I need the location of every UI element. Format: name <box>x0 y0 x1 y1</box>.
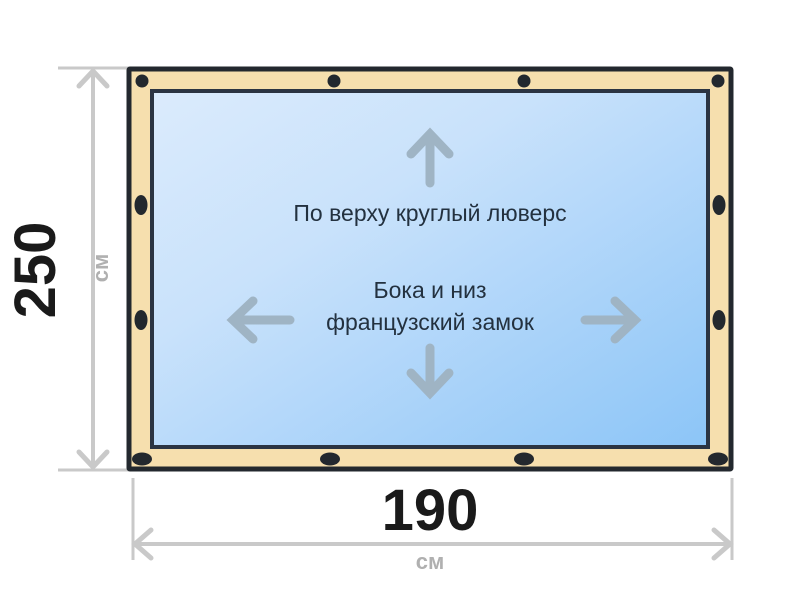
oval-grommet-horizontal <box>320 453 340 466</box>
side-bottom-note-line1: Бока и низ <box>374 277 487 303</box>
oval-grommet-vertical <box>713 310 726 330</box>
round-grommet <box>136 75 149 88</box>
diagram-canvas: По верху круглый люверс Бока и низ франц… <box>0 0 800 600</box>
top-grommet-note: По верху круглый люверс <box>293 200 566 226</box>
round-grommet <box>712 75 725 88</box>
round-grommet <box>518 75 531 88</box>
round-grommet <box>328 75 341 88</box>
height-dimension-value: 250 <box>3 222 68 319</box>
side-bottom-note-line2: французский замок <box>326 309 535 335</box>
awning-dimension-diagram: По верху круглый люверс Бока и низ франц… <box>0 0 800 600</box>
height-dimension-unit: см <box>88 254 113 283</box>
oval-grommet-horizontal <box>514 453 534 466</box>
oval-grommet-vertical <box>135 195 148 215</box>
oval-grommet-horizontal <box>132 453 152 466</box>
oval-grommet-vertical <box>713 195 726 215</box>
oval-grommet-vertical <box>135 310 148 330</box>
oval-grommet-horizontal <box>708 453 728 466</box>
width-dimension-unit: см <box>416 549 445 574</box>
width-dimension-value: 190 <box>382 478 479 543</box>
